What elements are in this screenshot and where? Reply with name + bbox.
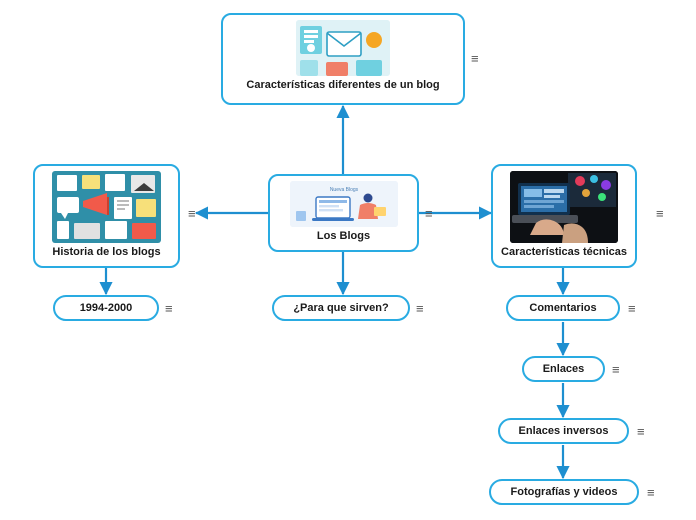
node-enlaces[interactable]: Enlaces [522, 356, 605, 382]
hamburger-menu-icon-enlaces-inversos[interactable]: ≡ [637, 425, 645, 438]
bulletin-board-illustration [52, 171, 161, 243]
hamburger-menu-icon-historia[interactable]: ≡ [188, 207, 196, 220]
hamburger-menu-icon-tecnicas[interactable]: ≡ [656, 207, 664, 220]
node-label: Historia de los blogs [52, 246, 160, 259]
node-central-los-blogs[interactable]: Nueva Blogs Los Blogs [268, 174, 419, 252]
node-fotografias-y-videos[interactable]: Fotografías y videos [489, 479, 639, 505]
hamburger-menu-icon-central[interactable]: ≡ [425, 207, 433, 220]
hamburger-menu-icon-anios[interactable]: ≡ [165, 302, 173, 315]
node-comentarios[interactable]: Comentarios [506, 295, 620, 321]
node-label: Enlaces [543, 363, 585, 376]
node-anios-1994-2000[interactable]: 1994-2000 [53, 295, 159, 321]
node-caracteristicas-diferentes[interactable]: Características diferentes de un blog [221, 13, 465, 105]
hamburger-menu-icon-comentarios[interactable]: ≡ [628, 302, 636, 315]
svg-text:Nueva Blogs: Nueva Blogs [329, 187, 358, 193]
node-historia-de-los-blogs[interactable]: Historia de los blogs [33, 164, 180, 268]
blog-illustration-laptop: Nueva Blogs [290, 181, 398, 227]
hamburger-menu-icon-para-que-sirven[interactable]: ≡ [416, 302, 424, 315]
email-envelope-illustration [296, 20, 390, 76]
node-enlaces-inversos[interactable]: Enlaces inversos [498, 418, 629, 444]
mindmap-canvas: Características diferentes de un blog ≡ … [0, 0, 696, 520]
node-label: Los Blogs [317, 230, 370, 243]
node-label: Fotografías y videos [511, 486, 618, 499]
node-caracteristicas-tecnicas[interactable]: Características técnicas [491, 164, 637, 268]
node-label: Comentarios [529, 302, 596, 315]
hamburger-menu-icon-caracteristicas-diferentes[interactable]: ≡ [471, 52, 479, 65]
node-label: Características técnicas [501, 246, 627, 259]
node-label: 1994-2000 [80, 302, 133, 315]
hamburger-menu-icon-fotografias[interactable]: ≡ [647, 486, 655, 499]
node-label: ¿Para que sirven? [293, 302, 388, 315]
node-para-que-sirven[interactable]: ¿Para que sirven? [272, 295, 410, 321]
laptop-hands-photo [510, 171, 618, 243]
node-label: Características diferentes de un blog [246, 79, 439, 92]
hamburger-menu-icon-enlaces[interactable]: ≡ [612, 363, 620, 376]
node-label: Enlaces inversos [519, 425, 609, 438]
